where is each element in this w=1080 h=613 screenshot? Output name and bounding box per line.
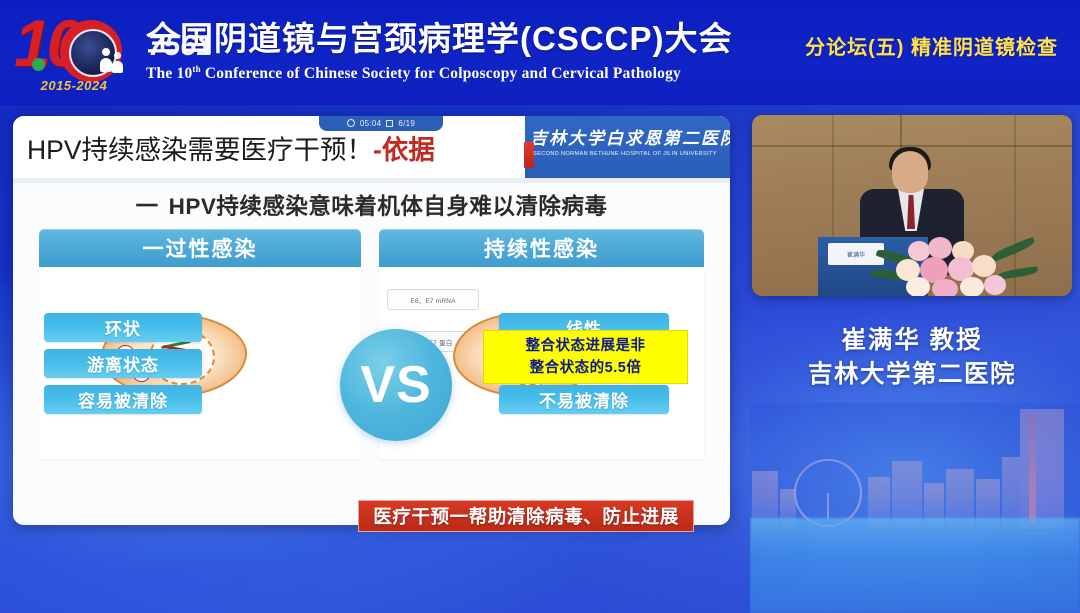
speaker-video-panel[interactable]: 崔满华 bbox=[752, 115, 1072, 296]
slide-bottom-banner: 医疗干预一帮助清除病毒、防止进展 bbox=[358, 500, 694, 532]
anniversary-green-dot-icon bbox=[32, 58, 45, 71]
conference-title-en-sup: th bbox=[192, 64, 200, 74]
conference-title-cn: 全国阴道镜与宫颈病理学(CSCCP)大会 bbox=[146, 19, 733, 59]
slide-title-main: HPV持续感染需要医疗干预！ bbox=[27, 135, 373, 165]
serial-overlay-number: 7561 bbox=[148, 30, 213, 63]
header-left-group: 10 2015-2024 全国阴道镜与宫颈病理学(CSCCP)大会 The 10… bbox=[8, 6, 733, 98]
session-label: 分论坛(五) 精准阴道镜检查 bbox=[805, 31, 1058, 60]
people-icon bbox=[100, 46, 130, 74]
conference-title-en-prefix: The 10 bbox=[146, 66, 192, 83]
column-header-transient: 一过性感染 bbox=[39, 229, 361, 267]
column-header-persistent: 持续性感染 bbox=[379, 229, 704, 267]
slide-subheading-text: HPV持续感染意味着机体自身难以清除病毒 bbox=[169, 194, 608, 219]
hospital-name-cn: 吉林大学白求恩第二医院 bbox=[530, 128, 720, 150]
hospital-logo: 吉林大学白求恩第二医院 SECOND NORMAN BETHUNE HOSPIT… bbox=[530, 128, 720, 157]
slide-title-bar: 05:04 6/19 HPV持续感染需要医疗干预！-依据 吉林大学白求恩第二医院… bbox=[13, 116, 730, 178]
slide-subheading: 一HPV持续感染意味着机体自身难以清除病毒 bbox=[13, 189, 730, 221]
cityscape-graphic bbox=[750, 403, 1080, 613]
conference-title-en-rest: Conference of Chinese Society for Colpos… bbox=[201, 66, 681, 83]
conference-title-en: The 10th Conference of Chinese Society f… bbox=[146, 59, 733, 84]
cityscape-haze bbox=[750, 403, 1080, 613]
speaker-name: 崔满华 教授 bbox=[752, 324, 1072, 358]
slide-title: HPV持续感染需要医疗干预！-依据 bbox=[27, 128, 435, 167]
slide-body: 一HPV持续感染意味着机体自身难以清除病毒 一过性感染 持续性感染 bbox=[13, 183, 730, 525]
event-header-banner: 10 2015-2024 全国阴道镜与宫颈病理学(CSCCP)大会 The 10… bbox=[0, 0, 1080, 105]
slide-title-accent: -依据 bbox=[373, 135, 435, 165]
speaker-caption: 崔满华 教授 吉林大学第二医院 bbox=[752, 324, 1072, 392]
calendar-icon bbox=[386, 120, 393, 127]
highlight-note: 整合状态进展是非 整合状态的5.5倍 bbox=[483, 330, 688, 384]
anniversary-logo: 10 2015-2024 bbox=[8, 6, 140, 98]
highlight-note-line2: 整合状态的5.5倍 bbox=[530, 357, 642, 379]
tag-episomal-state: 游离状态 bbox=[44, 349, 202, 378]
slide-subheading-dash: 一 bbox=[136, 194, 159, 219]
tag-not-easily-cleared: 不易被清除 bbox=[499, 385, 669, 414]
flower-arrangement bbox=[870, 235, 1038, 296]
tag-easily-cleared: 容易被清除 bbox=[44, 385, 202, 414]
speaker-affiliation: 吉林大学第二医院 bbox=[752, 358, 1072, 392]
hospital-name-en: SECOND NORMAN BETHUNE HOSPITAL OF JILIN … bbox=[530, 151, 720, 157]
versus-badge: VS bbox=[340, 329, 452, 441]
anniversary-years: 2015-2024 bbox=[10, 78, 138, 93]
timestamp-time: 05:04 bbox=[360, 119, 382, 128]
header-title-group: 全国阴道镜与宫颈病理学(CSCCP)大会 The 10th Conference… bbox=[146, 19, 733, 84]
timestamp-date: 6/19 bbox=[398, 119, 415, 128]
presentation-slide[interactable]: 05:04 6/19 HPV持续感染需要医疗干预！-依据 吉林大学白求恩第二医院… bbox=[13, 116, 730, 525]
clock-icon bbox=[347, 119, 355, 127]
highlight-note-line1: 整合状态进展是非 bbox=[526, 335, 646, 357]
speaker-head bbox=[892, 151, 928, 193]
tag-circular: 环状 bbox=[44, 313, 202, 342]
minilabel-mrna: E6、E7 mRNA bbox=[387, 289, 479, 310]
